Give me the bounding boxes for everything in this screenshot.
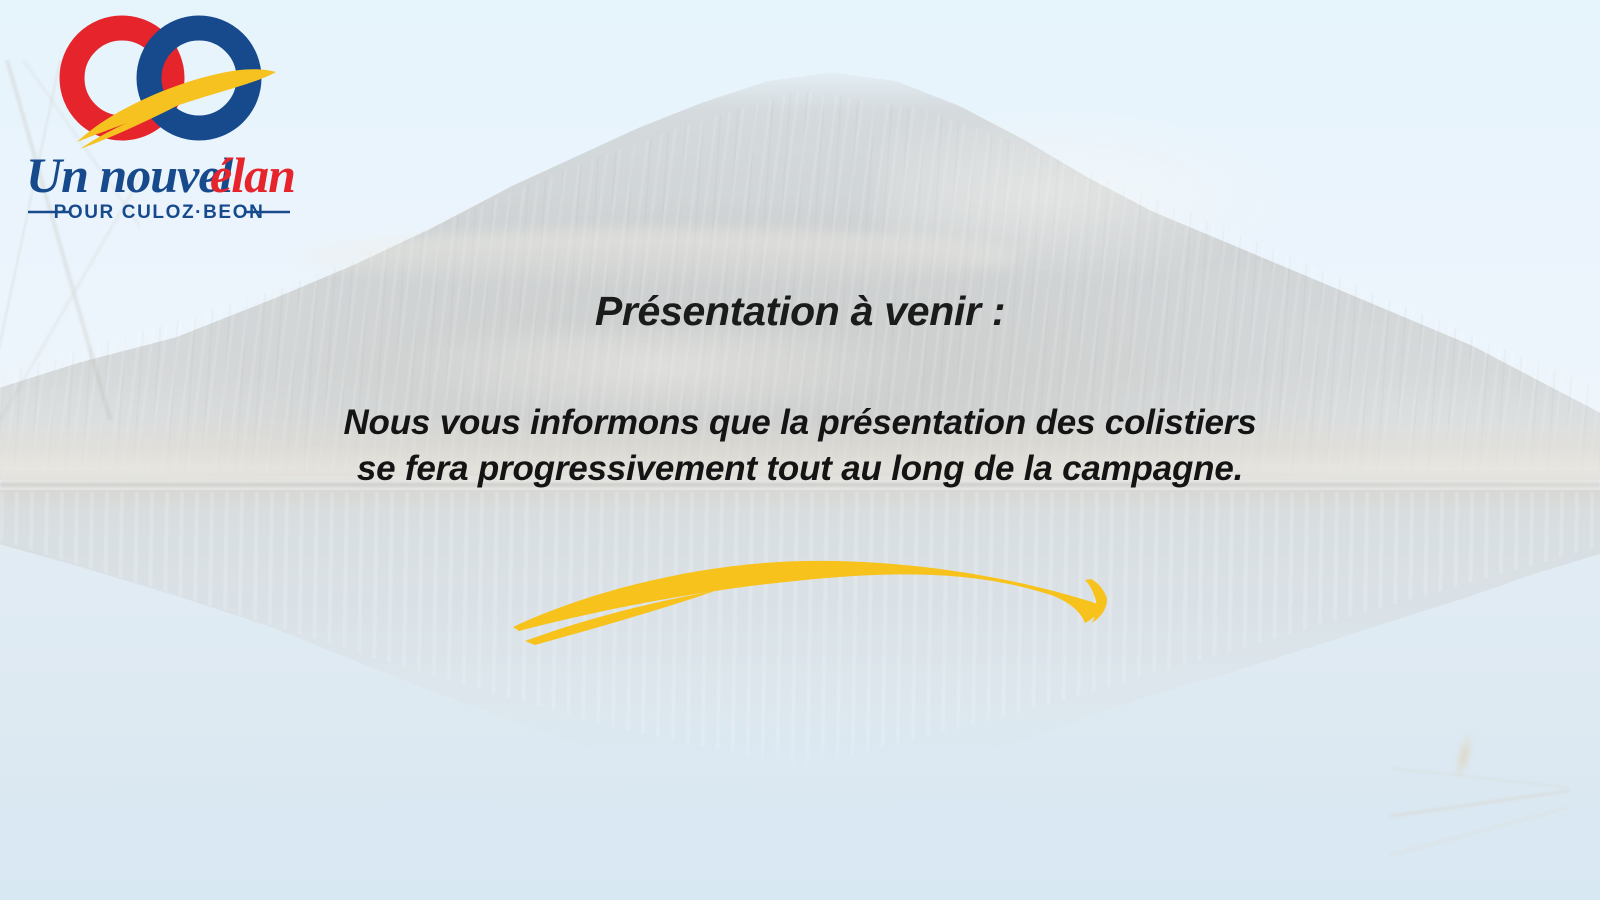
body-line-2: se fera progressivement tout au long de … — [0, 446, 1600, 492]
logo-name-part1: Un nouvel — [26, 147, 233, 203]
logo-tagline: POUR CULOZ·BEON — [54, 202, 265, 223]
slide-headline: Présentation à venir : — [0, 288, 1600, 335]
body-line-1: Nous vous informons que la présentation … — [0, 400, 1600, 446]
slide-canvas: Un nouvel élan POUR CULOZ·BEON Présentat… — [0, 0, 1600, 900]
slide-body: Nous vous informons que la présentation … — [0, 400, 1600, 492]
logo-name-part2: élan — [210, 147, 295, 203]
yellow-swoosh-divider — [495, 535, 1145, 645]
campaign-logo[interactable]: Un nouvel élan POUR CULOZ·BEON — [14, 6, 304, 224]
